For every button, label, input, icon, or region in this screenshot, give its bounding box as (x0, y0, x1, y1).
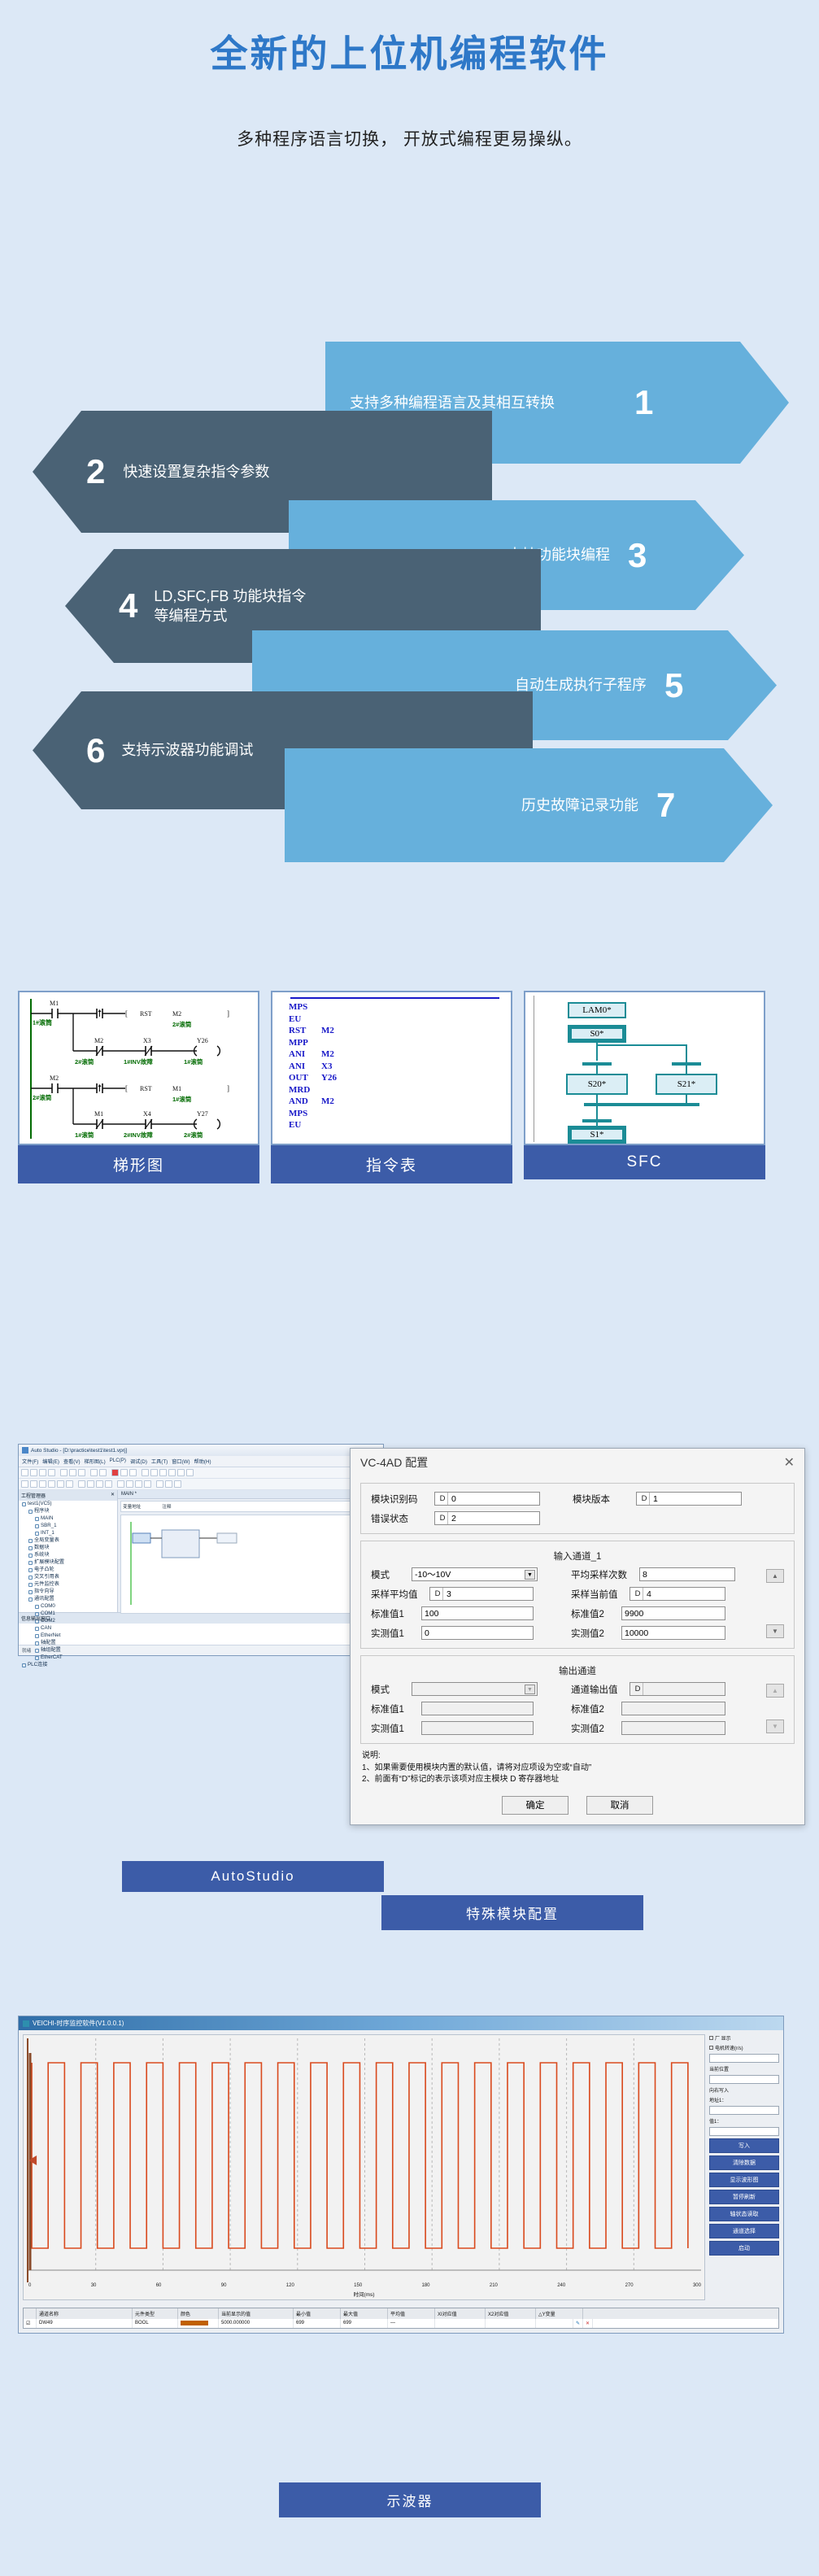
tree-node-icon (35, 1627, 39, 1631)
module-id-field[interactable]: D 0 (434, 1492, 540, 1506)
sfc-step: S0* (568, 1025, 626, 1043)
ide-title-bar: Auto Studio - [D:\practice\test1\test1.v… (19, 1445, 383, 1456)
tree-item[interactable]: 通讯配置 (19, 1596, 117, 1603)
row-name: DW49 (37, 2319, 133, 2328)
ide-body: 工程管理器 ✕ test1(VC5)程序块MAINSBR_1INT_1全局变量表… (19, 1490, 383, 1612)
tree-item-label: 指令向导 (34, 1589, 54, 1596)
run-icon[interactable] (168, 1469, 176, 1476)
input-channel-group: 输入通道_1 模式 -10～10V ▼ 采样平均值 D 3 (360, 1541, 795, 1649)
svg-text:[: [ (125, 1009, 128, 1018)
tree-item-label: SBR_1 (41, 1523, 57, 1530)
dialog-title: VC-4AD 配置 (360, 1454, 428, 1471)
output-mode-select[interactable]: ▼ (412, 1682, 538, 1696)
clear-data-button[interactable]: 清除数据 (709, 2155, 779, 2170)
meas-value-1-row: 实测值1 0 (371, 1626, 560, 1640)
tree-item[interactable]: EtherCAT (19, 1654, 117, 1662)
svg-text:M2: M2 (172, 1010, 181, 1018)
cancel-button[interactable]: 取消 (586, 1796, 653, 1815)
motor-speed-label: 电机转速(r/s) (715, 2044, 743, 2051)
svg-text:2#滚筒: 2#滚筒 (75, 1057, 94, 1066)
tree-item[interactable]: 元件监控表 (19, 1581, 117, 1589)
input-channel-caption: 输入通道_1 (371, 1550, 784, 1563)
il-divider (290, 997, 499, 999)
invert-icon[interactable] (174, 1480, 181, 1488)
row-edit-icon[interactable]: ✎ (573, 2319, 583, 2328)
tree-item[interactable]: 电子凸轮 (19, 1567, 117, 1574)
list-item: OUTY26 (272, 1072, 511, 1084)
tree-node-icon (28, 1546, 33, 1550)
channel-output-label: 通道输出值 (571, 1683, 629, 1696)
tree-node-icon (22, 1502, 26, 1506)
tree-item[interactable]: 全局变量表 (19, 1537, 117, 1545)
editor-col1-label: 变量地址 (123, 1503, 141, 1510)
coil-icon[interactable] (39, 1480, 46, 1488)
tree-node-icon (35, 1649, 39, 1653)
menu-item-file[interactable]: 文件(F) (22, 1458, 38, 1465)
zoom-in-icon[interactable] (120, 1469, 128, 1476)
monitor-icon[interactable] (186, 1469, 194, 1476)
caption-special-module: 特殊模块配置 (381, 1895, 643, 1930)
il-op: OUT (272, 1072, 321, 1084)
tree-item-label: 全局变量表 (34, 1537, 59, 1545)
sfc-left-rail (534, 996, 534, 1142)
sfc-merge-bar (584, 1103, 699, 1106)
axis-status-read-button[interactable]: 轴状态读取 (709, 2207, 779, 2221)
autostudio-window: Auto Studio - [D:\practice\test1\test1.v… (18, 1444, 384, 1656)
line-down-icon[interactable] (126, 1480, 133, 1488)
il-op: RST (272, 1025, 321, 1037)
row-avg: — (388, 2319, 435, 2328)
tree-item[interactable]: 轴配置 (19, 1640, 117, 1647)
meas-value-1-field[interactable]: 0 (421, 1626, 534, 1640)
ide-editor-panel[interactable]: MAIN * 变量地址 注释 (118, 1490, 383, 1612)
tree-node-icon (35, 1634, 39, 1638)
sfc-step-label: S20* (588, 1079, 607, 1089)
note-title: 说明: (362, 1750, 793, 1763)
channel-output-row: 通道输出值 D (571, 1682, 760, 1696)
menu-item-tools[interactable]: 工具(T) (151, 1458, 168, 1465)
sfc-step: S21* (656, 1074, 717, 1095)
input-mode-select[interactable]: -10～10V ▼ (412, 1567, 538, 1581)
tree-item[interactable]: 轴组配置 (19, 1647, 117, 1654)
sample-current-row: 采样当前值 D 4 (571, 1587, 760, 1601)
x-tick: 300 (693, 2283, 701, 2288)
tree-item-label: 扩展模块配置 (34, 1559, 64, 1567)
x-tick: 60 (156, 2283, 162, 2288)
tree-item-label: test1(VC5) (28, 1501, 52, 1508)
menu-item-help[interactable]: 帮助(H) (194, 1458, 211, 1465)
x-tick: 0 (28, 2283, 31, 2288)
motor-speed-value[interactable] (709, 2054, 779, 2063)
row-color-swatch[interactable] (178, 2319, 219, 2328)
menu-item-window[interactable]: 窗口(W) (172, 1458, 190, 1465)
sfc-step-label: S0* (590, 1029, 603, 1039)
svg-text:[: [ (125, 1084, 128, 1092)
fall-edge-icon[interactable] (165, 1480, 172, 1488)
project-tree[interactable]: test1(VC5)程序块MAINSBR_1INT_1全局变量表数据块系统块扩展… (19, 1501, 117, 1669)
ide-toolbar-row1[interactable] (19, 1467, 383, 1479)
current-position-label-row: 当前位置 (709, 2065, 779, 2073)
module-id-value: 0 (448, 1494, 456, 1504)
svg-text:X4: X4 (143, 1110, 151, 1118)
list-item: MRD (272, 1084, 511, 1096)
tree-node-icon (28, 1561, 33, 1565)
copy-icon[interactable] (69, 1469, 76, 1476)
paste-icon[interactable] (78, 1469, 85, 1476)
tree-item-label: 数据块 (34, 1545, 50, 1552)
std-value-1-label: 标准值1 (371, 1607, 421, 1620)
stop-icon[interactable] (177, 1469, 185, 1476)
tree-node-icon (35, 1641, 39, 1645)
il-arg (321, 1108, 394, 1120)
x-tick: 180 (422, 2283, 430, 2288)
ok-button[interactable]: 确定 (502, 1796, 569, 1815)
line-corner-icon[interactable] (135, 1480, 142, 1488)
align-left-icon[interactable] (78, 1480, 85, 1488)
tree-node-icon (35, 1524, 39, 1528)
menu-item-ladder[interactable]: 梯形图(L) (85, 1458, 106, 1465)
th-current: 当前显示的值 (219, 2308, 294, 2319)
download-icon[interactable] (150, 1469, 158, 1476)
menu-item-debug[interactable]: 调试(D) (130, 1458, 147, 1465)
tree-item[interactable]: COM0 (19, 1603, 117, 1611)
svg-text:M2: M2 (50, 1074, 59, 1082)
il-arg: Y26 (321, 1072, 394, 1084)
il-arg: M2 (321, 1048, 394, 1061)
tree-item[interactable]: test1(VC5) (19, 1501, 117, 1508)
svg-text:M1: M1 (50, 1000, 59, 1007)
list-item: ANDM2 (272, 1096, 511, 1108)
align-center-icon[interactable] (87, 1480, 94, 1488)
std-value-2-value: 9900 (625, 1609, 643, 1619)
tree-item-label: EtherNet (41, 1632, 60, 1640)
tree-node-icon (28, 1510, 33, 1514)
sample-current-value: 4 (643, 1589, 651, 1599)
list-item: EU (272, 1013, 511, 1026)
oscilloscope-sidebar[interactable]: 厂 显示 电机转速(r/s) 当前位置 向右写入 地址1： 值1： 写入 (709, 2034, 779, 2300)
output-meas-2-field[interactable] (621, 1721, 725, 1735)
channel-select-button[interactable]: 通道选择 (709, 2224, 779, 2238)
write-button[interactable]: 写入 (709, 2138, 779, 2153)
branch-up-icon[interactable] (66, 1480, 73, 1488)
oscilloscope-window: VEICHI-时序监控软件(V1.0.0.1) (18, 2016, 784, 2334)
th-check (24, 2308, 37, 2319)
cut-icon[interactable] (60, 1469, 68, 1476)
d-tag: D (633, 1683, 643, 1695)
tree-item[interactable]: 数据块 (19, 1545, 117, 1552)
panel-sfc: LAM0* S0* S20* S21* S (524, 991, 765, 1179)
scroll-down-button[interactable]: ▼ (766, 1624, 784, 1638)
delete-icon[interactable] (111, 1469, 119, 1476)
vc4ad-config-dialog: VC-4AD 配置 ✕ 模块识别码 D 0 模块版本 D 1 错误状态 D 2 … (350, 1448, 805, 1825)
arrow-label-4: LD,SFC,FB 功能块指令等编程方式 (154, 586, 316, 626)
line-join-icon[interactable] (144, 1480, 151, 1488)
list-item: MPP (272, 1037, 511, 1049)
sample-current-field[interactable]: D 4 (629, 1587, 725, 1601)
error-state-value: 2 (448, 1514, 456, 1523)
oscilloscope-body: 0 30 60 90 120 150 180 210 240 270 300 时… (19, 2030, 783, 2304)
current-position-label: 当前位置 (709, 2065, 729, 2073)
svg-text:1#滚筒: 1#滚筒 (184, 1057, 203, 1066)
ide-title-text: Auto Studio - [D:\practice\test1\test1.v… (31, 1448, 127, 1454)
il-arg (321, 1119, 394, 1131)
compile-icon[interactable] (142, 1469, 149, 1476)
svg-text:M2: M2 (94, 1037, 103, 1044)
list-item: EU (272, 1119, 511, 1131)
output-channel-group: 输出通道 模式 ▼ 标准值1 实测值1 (360, 1655, 795, 1744)
show-waveform-button[interactable]: 显示波形图 (709, 2173, 779, 2187)
error-state-field[interactable]: D 2 (434, 1511, 540, 1525)
list-item: RSTM2 (272, 1025, 511, 1037)
list-item: MPS (272, 1001, 511, 1013)
svg-text:1#滚筒: 1#滚筒 (172, 1095, 192, 1103)
channel-table: 通道名称 元件类型 颜色 当前显示的值 最小值 最大值 平均值 XI对应值 X2… (23, 2308, 779, 2329)
motor-speed-checkbox[interactable]: 电机转速(r/s) (709, 2044, 779, 2051)
line-right-icon[interactable] (117, 1480, 124, 1488)
tree-item-label: EtherCAT (41, 1654, 63, 1662)
svg-text:]: ] (227, 1009, 229, 1018)
ladder-canvas: M1 1#滚筒 [ RST M2 ] 2#滚筒 (18, 991, 259, 1145)
oscilloscope-title-bar: VEICHI-时序监控软件(V1.0.0.1) (19, 2016, 783, 2030)
d-tag: D (438, 1493, 448, 1505)
show-checkbox[interactable]: 厂 显示 (709, 2034, 779, 2042)
std-value-2-row: 标准值2 9900 (571, 1606, 760, 1620)
row-min: 699 (294, 2319, 341, 2328)
redo-icon[interactable] (99, 1469, 107, 1476)
module-id-label: 模块识别码 (371, 1493, 434, 1506)
list-item: ANIX3 (272, 1061, 511, 1073)
note-line-2: 2、前面有“D”标记的表示该项对应主模块 D 寄存器地址 (362, 1774, 793, 1786)
undo-icon[interactable] (90, 1469, 98, 1476)
tree-item[interactable]: EtherNet (19, 1632, 117, 1640)
upload-icon[interactable] (159, 1469, 167, 1476)
arrow-number-5: 5 (664, 669, 683, 703)
il-op: EU (272, 1119, 321, 1131)
output-meas-2-label: 实测值2 (571, 1722, 621, 1735)
tree-item[interactable]: SBR_1 (19, 1523, 117, 1530)
tree-item[interactable]: 交叉引用表 (19, 1574, 117, 1581)
pause-refresh-button[interactable]: 暂停刷新 (709, 2190, 779, 2204)
panel-caption-instruction-list: 指令表 (271, 1145, 512, 1183)
tree-item-label: PLC连接 (28, 1662, 47, 1669)
address1-label-row: 地址1： (709, 2096, 779, 2103)
output-meas-1-field[interactable] (421, 1721, 534, 1735)
svg-text:2#滚筒: 2#滚筒 (172, 1020, 192, 1028)
tree-node-icon (35, 1605, 39, 1609)
svg-text:2#滚筒: 2#滚筒 (184, 1131, 203, 1139)
tree-node-icon (28, 1590, 33, 1594)
il-arg (321, 1084, 394, 1096)
tree-item-label: CAN (41, 1625, 51, 1632)
tree-node-icon (28, 1576, 33, 1580)
value1-input[interactable] (709, 2127, 779, 2136)
arrow-label-6: 支持示波器功能调试 (121, 740, 253, 760)
ide-menu-bar[interactable]: 文件(F) 编辑(E) 查看(V) 梯形图(L) PLC(P) 调试(D) 工具… (19, 1456, 383, 1467)
add-row-icon[interactable] (48, 1480, 55, 1488)
show-label: 厂 显示 (715, 2034, 731, 2042)
svg-text:1#滚筒: 1#滚筒 (75, 1131, 94, 1139)
row-delete-icon[interactable]: ✕ (583, 2319, 593, 2328)
value1-label: 值1： (709, 2117, 721, 2125)
arrow-number-6: 6 (86, 734, 105, 768)
branch-down-icon[interactable] (57, 1480, 64, 1488)
menu-item-plc[interactable]: PLC(P) (110, 1458, 126, 1465)
error-state-label: 错误状态 (371, 1512, 434, 1525)
th-x1: XI对应值 (435, 2308, 486, 2319)
checkbox-icon[interactable] (709, 2036, 713, 2040)
input-mode-label: 模式 (371, 1568, 412, 1581)
new-icon[interactable] (21, 1469, 28, 1476)
waveform-plot[interactable] (27, 2038, 701, 2282)
module-version-field[interactable]: D 1 (636, 1492, 742, 1506)
sfc-step-label: LAM0* (582, 1005, 611, 1015)
checkbox-icon[interactable] (709, 2046, 713, 2050)
output-scroll-up-button[interactable]: ▲ (766, 1684, 784, 1698)
d-tag: D (438, 1512, 448, 1524)
sfc-connector (686, 1044, 687, 1064)
x-tick: 30 (91, 2283, 97, 2288)
il-arg: M2 (321, 1096, 394, 1108)
contact-nc-icon[interactable] (30, 1480, 37, 1488)
project-manager-header: 工程管理器 ✕ (19, 1490, 117, 1501)
tree-item[interactable]: PLC连接 (19, 1662, 117, 1669)
sample-avg-row: 采样平均值 D 3 (371, 1587, 560, 1601)
close-icon[interactable]: ✕ (784, 1454, 795, 1471)
tree-item-label: COM0 (41, 1603, 55, 1611)
page-subtitle: 多种程序语言切换， 开放式编程更易操纵。 (0, 126, 819, 150)
ladder-editor-canvas[interactable] (120, 1515, 381, 1614)
tree-item[interactable]: 程序块 (19, 1508, 117, 1515)
save-icon[interactable] (39, 1469, 46, 1476)
d-tag: D (633, 1588, 643, 1600)
row-checkbox[interactable]: ☑ (24, 2319, 37, 2328)
arrow-item-7: 历史故障记录功能 7 (285, 748, 773, 862)
current-position-value[interactable] (709, 2075, 779, 2084)
chevron-down-icon[interactable]: ▼ (525, 1570, 535, 1580)
svg-text:]: ] (227, 1084, 229, 1092)
x-tick: 240 (557, 2283, 565, 2288)
il-arg: M2 (321, 1025, 394, 1037)
tree-item-label: 程序块 (34, 1508, 50, 1515)
row-type: BOOL (133, 2319, 178, 2328)
zoom-out-icon[interactable] (129, 1469, 137, 1476)
tree-item[interactable]: 指令向导 (19, 1589, 117, 1596)
row-current: 5000.000000 (219, 2319, 294, 2328)
il-op: AND (272, 1096, 321, 1108)
print-icon[interactable] (48, 1469, 55, 1476)
th-color: 颜色 (178, 2308, 219, 2319)
editor-tab-main[interactable]: MAIN * (118, 1490, 383, 1499)
th-name: 通道名称 (37, 2308, 133, 2319)
start-button[interactable]: 启动 (709, 2241, 779, 2256)
output-std-1-field[interactable] (421, 1702, 534, 1715)
arrow-label-7: 历史故障记录功能 (333, 795, 638, 815)
th-type: 元件类型 (133, 2308, 178, 2319)
sample-avg-field[interactable]: D 3 (429, 1587, 534, 1601)
svg-text:M1: M1 (172, 1085, 181, 1092)
list-item: MPS (272, 1108, 511, 1120)
address1-input[interactable] (709, 2106, 779, 2115)
scroll-up-button[interactable]: ▲ (766, 1569, 784, 1583)
output-scroll-down-button[interactable]: ▼ (766, 1720, 784, 1733)
svg-text:Y26: Y26 (197, 1037, 208, 1044)
project-manager-panel[interactable]: 工程管理器 ✕ test1(VC5)程序块MAINSBR_1INT_1全局变量表… (19, 1490, 118, 1612)
output-meas-1-label: 实测值1 (371, 1722, 421, 1735)
page-title: 全新的上位机编程软件 (0, 24, 819, 78)
th-max: 最大值 (341, 2308, 388, 2319)
meas-value-2-label: 实测值2 (571, 1627, 621, 1640)
th-avg: 平均值 (388, 2308, 435, 2319)
tree-item-label: MAIN (41, 1515, 53, 1523)
contact-no-icon[interactable] (21, 1480, 28, 1488)
il-arg: X3 (321, 1061, 394, 1073)
output-std-1-row: 标准值1 (371, 1702, 560, 1715)
sfc-step: S20* (566, 1074, 628, 1095)
output-mode-label: 模式 (371, 1683, 412, 1696)
table-row[interactable]: ☑ DW49 BOOL 5000.000000 699 699 — ✎ ✕ (24, 2319, 778, 2328)
tree-node-icon (28, 1554, 33, 1558)
sfc-step-label: S21* (677, 1079, 696, 1089)
row-dy (536, 2319, 573, 2328)
ide-toolbar-row2[interactable] (19, 1479, 383, 1490)
svg-text:X3: X3 (143, 1037, 151, 1044)
waveform-plot-wrapper[interactable]: 0 30 60 90 120 150 180 210 240 270 300 时… (23, 2034, 705, 2300)
std-value-1-field[interactable]: 100 (421, 1606, 534, 1620)
arrow-feature-list: 支持多种编程语言及其相互转换 1 2 快速设置复杂指令参数 支持功能块编程 3 … (0, 342, 819, 911)
arrow-number-1: 1 (634, 386, 653, 420)
module-version-label: 模块版本 (573, 1493, 636, 1506)
tree-item[interactable]: 系统块 (19, 1552, 117, 1559)
output-std-2-field[interactable] (621, 1702, 725, 1715)
tree-item[interactable]: 扩展模块配置 (19, 1559, 117, 1567)
th-min: 最小值 (294, 2308, 341, 2319)
align-justify-icon[interactable] (105, 1480, 112, 1488)
sfc-step: S1* (568, 1126, 626, 1144)
x-axis-ticks: 0 30 60 90 120 150 180 210 240 270 300 (27, 2282, 701, 2288)
menu-item-edit[interactable]: 编辑(E) (42, 1458, 59, 1465)
open-icon[interactable] (30, 1469, 37, 1476)
x-tick: 270 (625, 2283, 634, 2288)
rise-edge-icon[interactable] (156, 1480, 163, 1488)
tree-item-label: 轴配置 (41, 1640, 56, 1647)
sfc-step: LAM0* (568, 1002, 626, 1018)
write-label: 向右写入 (709, 2086, 729, 2094)
project-manager-title: 工程管理器 (21, 1492, 46, 1499)
address1-label: 地址1： (709, 2096, 726, 2103)
menu-item-view[interactable]: 查看(V) (63, 1458, 81, 1465)
tree-item-label: 交叉引用表 (34, 1574, 59, 1581)
editor-col2-label: 注释 (162, 1503, 171, 1510)
tree-item[interactable]: INT_1 (19, 1530, 117, 1537)
avg-sample-count-field[interactable]: 8 (639, 1567, 735, 1581)
svg-text:2#INV故障: 2#INV故障 (124, 1131, 153, 1139)
dialog-buttons: 确定 取消 (351, 1793, 804, 1824)
input-mode-row: 模式 -10～10V ▼ (371, 1567, 560, 1581)
std-value-2-field[interactable]: 9900 (621, 1606, 725, 1620)
align-right-icon[interactable] (96, 1480, 103, 1488)
tree-item[interactable]: MAIN (19, 1515, 117, 1523)
close-icon[interactable]: ✕ (111, 1492, 115, 1499)
channel-output-field[interactable]: D (629, 1682, 725, 1696)
module-info-group: 模块识别码 D 0 模块版本 D 1 错误状态 D 2 (360, 1483, 795, 1534)
meas-value-2-field[interactable]: 10000 (621, 1626, 725, 1640)
chevron-down-icon[interactable]: ▼ (525, 1685, 535, 1694)
dialog-title-bar: VC-4AD 配置 ✕ (351, 1449, 804, 1476)
panel-instruction-list: MPS EU RSTM2 MPP ANIM2 ANIX3 OUTY26 MRD … (271, 991, 512, 1183)
tree-item[interactable]: CAN (19, 1625, 117, 1632)
arrow-number-2: 2 (86, 455, 105, 489)
std-value-2-label: 标准值2 (571, 1607, 621, 1620)
